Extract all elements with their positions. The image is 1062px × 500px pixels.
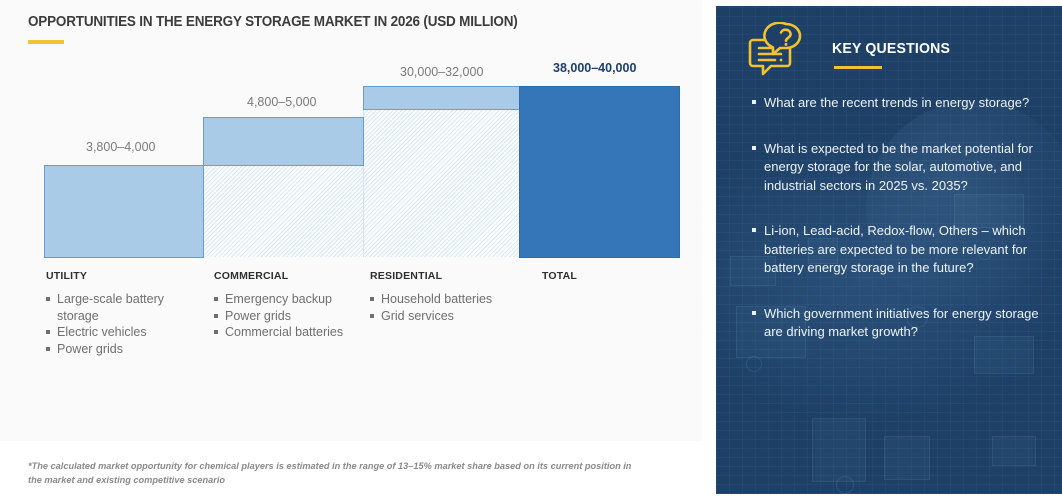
category-list-utility: Large-scale battery storage Electric veh… — [46, 291, 196, 357]
list-item: Household batteries — [370, 291, 520, 308]
category-block-residential: RESIDENTIAL Household batteries Grid ser… — [370, 270, 520, 324]
category-title-commercial: COMMERCIAL — [214, 270, 364, 282]
hatch-region-residential — [363, 109, 520, 257]
category-title-residential: RESIDENTIAL — [370, 270, 520, 282]
list-item: Large-scale battery storage — [46, 291, 196, 324]
bar-segment-residential[interactable] — [363, 86, 520, 110]
key-questions-accent-rule — [834, 66, 882, 69]
value-label-commercial: 4,800–5,000 — [247, 95, 317, 109]
value-label-residential: 30,000–32,000 — [400, 65, 483, 79]
value-label-utility: 3,800–4,000 — [86, 140, 156, 154]
key-questions-title: KEY QUESTIONS — [832, 40, 950, 57]
chart-title: OPPORTUNITIES IN THE ENERGY STORAGE MARK… — [28, 14, 518, 30]
list-item: What is expected to be the market potent… — [752, 140, 1040, 196]
category-block-utility: UTILITY Large-scale battery storage Elec… — [46, 270, 196, 357]
hatch-region-commercial — [203, 165, 364, 257]
bar-segment-utility[interactable] — [44, 165, 204, 258]
list-item: Power grids — [214, 308, 364, 325]
value-label-total: 38,000–40,000 — [553, 61, 636, 75]
list-item: Emergency backup — [214, 291, 364, 308]
list-item: Commercial batteries — [214, 324, 364, 341]
list-item: Grid services — [370, 308, 520, 325]
category-list-residential: Household batteries Grid services — [370, 291, 520, 324]
category-legend-row: UTILITY Large-scale battery storage Elec… — [0, 270, 702, 410]
chart-panel: OPPORTUNITIES IN THE ENERGY STORAGE MARK… — [0, 0, 702, 441]
slide-root: OPPORTUNITIES IN THE ENERGY STORAGE MARK… — [0, 0, 1062, 500]
chart-footnote: *The calculated market opportunity for c… — [28, 460, 642, 488]
title-accent-rule — [28, 40, 64, 44]
category-block-total: TOTAL — [542, 270, 662, 291]
waterfall-plot: 3,800–4,000 4,800–5,000 30,000–32,000 38… — [0, 60, 702, 260]
bar-segment-commercial[interactable] — [203, 117, 364, 166]
list-item: Electric vehicles — [46, 324, 196, 341]
list-item: What are the recent trends in energy sto… — [752, 94, 1040, 113]
list-item: Which government initiatives for energy … — [752, 305, 1040, 342]
category-title-total: TOTAL — [542, 270, 662, 282]
list-item: Power grids — [46, 341, 196, 358]
key-questions-panel: KEY QUESTIONS What are the recent trends… — [716, 6, 1062, 494]
key-questions-list: What are the recent trends in energy sto… — [752, 94, 1040, 369]
category-title-utility: UTILITY — [46, 270, 196, 282]
category-list-commercial: Emergency backup Power grids Commercial … — [214, 291, 364, 341]
speech-bubble-question-icon — [748, 22, 812, 80]
list-item: Li-ion, Lead-acid, Redox-flow, Others – … — [752, 222, 1040, 278]
category-block-commercial: COMMERCIAL Emergency backup Power grids … — [214, 270, 364, 341]
bar-segment-total[interactable] — [519, 86, 680, 258]
